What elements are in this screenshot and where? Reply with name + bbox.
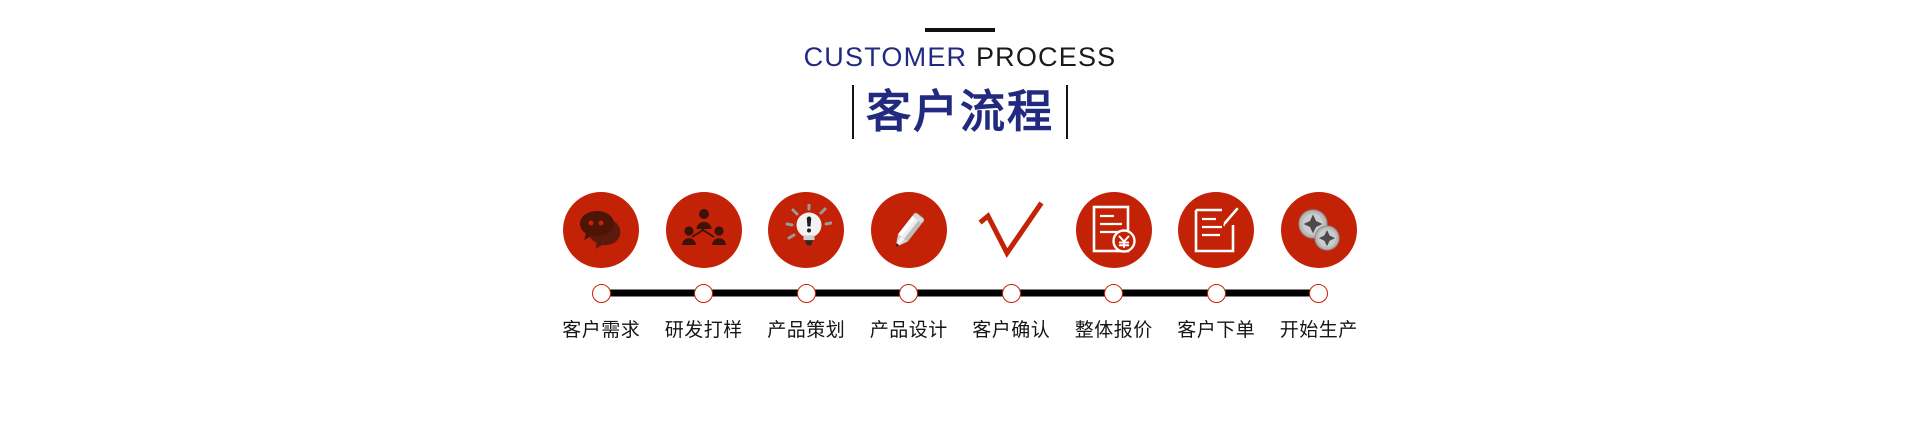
timeline-node	[1309, 284, 1328, 303]
header-chinese-title-frame: 客户流程	[852, 85, 1068, 139]
header: CUSTOMER PROCESS 客户流程	[0, 0, 1920, 144]
chat-bubbles-icon	[563, 192, 639, 268]
header-chinese-title: 客户流程	[854, 85, 1066, 139]
process-label-2: 研发打样	[665, 319, 743, 341]
timeline-node-slot	[960, 284, 1063, 303]
timeline-node	[1002, 284, 1021, 303]
timeline-node	[899, 284, 918, 303]
process-icons-row	[550, 168, 1370, 268]
timeline-node-slot	[1063, 284, 1166, 303]
timeline-node-slot	[1268, 284, 1371, 303]
timeline-node-slot	[1165, 284, 1268, 303]
timeline-node-slot	[755, 284, 858, 303]
process-label-slot-1: 客户需求	[550, 315, 653, 342]
customer-process-banner: CUSTOMER PROCESS 客户流程	[0, 0, 1920, 426]
lightbulb-idea-icon	[768, 192, 844, 268]
process-label-slot-8: 开始生产	[1268, 315, 1371, 342]
process-step-6	[1063, 192, 1166, 268]
process-label-1: 客户需求	[562, 319, 640, 341]
pen-design-icon	[871, 192, 947, 268]
process-step-3	[755, 192, 858, 268]
timeline-nodes	[550, 280, 1370, 306]
process-step-2	[653, 192, 756, 268]
header-english-primary: CUSTOMER	[804, 42, 968, 72]
process-step-8	[1268, 192, 1371, 268]
top-rule-divider	[925, 28, 995, 32]
process-label-slot-7: 客户下单	[1165, 315, 1268, 342]
process-label-slot-6: 整体报价	[1063, 315, 1166, 342]
process-label-slot-2: 研发打样	[653, 315, 756, 342]
order-document-pen-icon	[1178, 192, 1254, 268]
quotation-document-yen-icon	[1076, 192, 1152, 268]
process-label-slot-5: 客户确认	[960, 315, 1063, 342]
timeline-node-slot	[550, 284, 653, 303]
process-timeline: 客户需求 研发打样 产品策划 产品设计 客户确认 整体报价 客户下单 开始生产	[550, 168, 1370, 348]
process-label-6: 整体报价	[1075, 319, 1153, 341]
header-english-secondary: PROCESS	[976, 42, 1116, 72]
process-label-8: 开始生产	[1280, 319, 1358, 341]
timeline-node	[694, 284, 713, 303]
screws-production-icon	[1281, 192, 1357, 268]
checkmark-icon	[973, 192, 1049, 268]
timeline-node	[797, 284, 816, 303]
timeline-node-slot	[858, 284, 961, 303]
timeline-node	[1104, 284, 1123, 303]
process-step-7	[1165, 192, 1268, 268]
timeline-node-slot	[653, 284, 756, 303]
process-label-7: 客户下单	[1177, 319, 1255, 341]
bracket-right	[1066, 85, 1068, 139]
process-label-4: 产品设计	[870, 319, 948, 341]
process-label-slot-3: 产品策划	[755, 315, 858, 342]
header-english-title: CUSTOMER PROCESS	[0, 44, 1920, 71]
process-step-4	[858, 192, 961, 268]
timeline-rail	[550, 280, 1370, 306]
timeline-node	[592, 284, 611, 303]
timeline-node	[1207, 284, 1226, 303]
process-label-slot-4: 产品设计	[858, 315, 961, 342]
team-group-icon	[666, 192, 742, 268]
process-step-5	[960, 192, 1063, 268]
process-step-1	[550, 192, 653, 268]
process-labels-row: 客户需求 研发打样 产品策划 产品设计 客户确认 整体报价 客户下单 开始生产	[550, 315, 1370, 342]
process-label-5: 客户确认	[972, 319, 1050, 341]
process-label-3: 产品策划	[767, 319, 845, 341]
